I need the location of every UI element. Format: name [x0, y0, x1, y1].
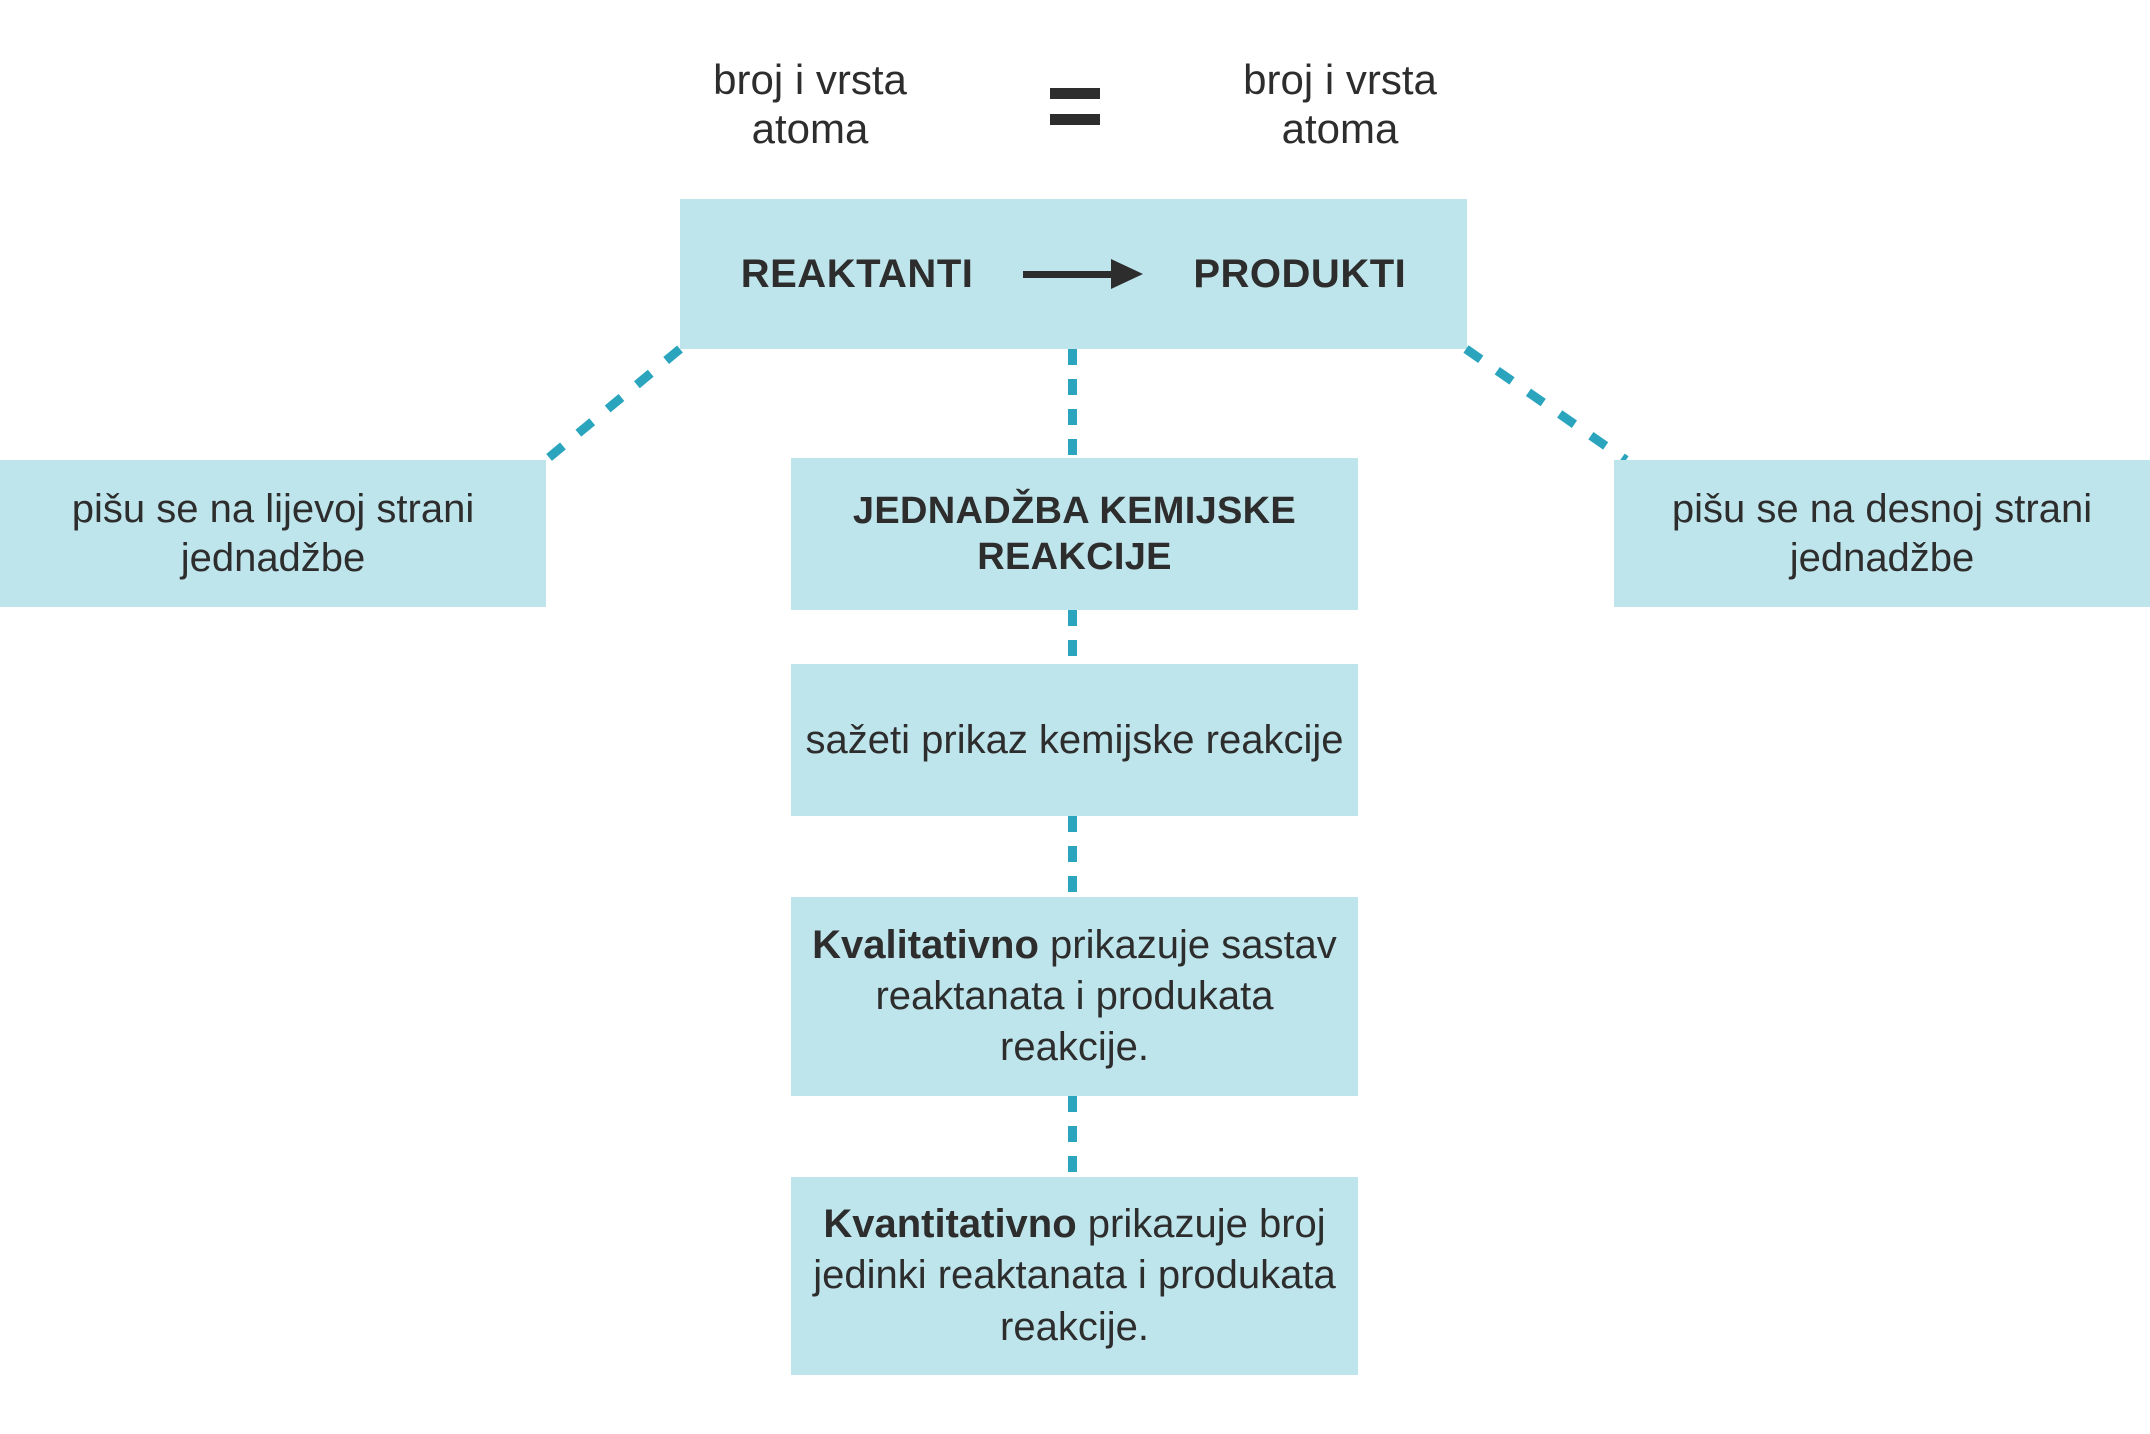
node-equation-title: JEDNADŽBA KEMIJSKE REAKCIJE: [791, 458, 1358, 610]
reactants-products-banner: REAKTANTI PRODUKTI: [680, 199, 1467, 349]
right-arrow-icon: [1023, 259, 1143, 289]
connector-title-to-summary: [1068, 610, 1077, 665]
note-left-reactants-side: pišu se na lijevoj strani jednadžbe: [0, 460, 546, 607]
node-qualitative: Kvalitativno prikazuje sastav reaktanata…: [791, 897, 1358, 1096]
note-right-products-side: pišu se na desnoj strani jednadžbe: [1614, 460, 2150, 607]
dashed-line-left: [546, 349, 680, 460]
equals-sign-icon: [1040, 72, 1110, 132]
reactants-label: REAKTANTI: [741, 252, 974, 297]
banner-row: REAKTANTI PRODUKTI: [680, 252, 1467, 297]
equation-title-text: JEDNADŽBA KEMIJSKE REAKCIJE: [791, 488, 1358, 581]
summary-text: sažeti prikaz kemijske reakcije: [791, 715, 1358, 765]
connector-qualitative-to-quantitative: [1068, 1096, 1077, 1178]
node-quantitative: Kvantitativno prikazuje broj jedinki rea…: [791, 1177, 1358, 1375]
quantitative-lead: Kvantitativno: [823, 1202, 1076, 1246]
connector-summary-to-qualitative: [1068, 816, 1077, 898]
qualitative-lead: Kvalitativno: [812, 923, 1039, 967]
products-label: PRODUKTI: [1193, 252, 1406, 297]
diagram-canvas: broj i vrsta atoma broj i vrsta atoma RE…: [0, 0, 2150, 1434]
quantitative-text: Kvantitativno prikazuje broj jedinki rea…: [791, 1199, 1358, 1353]
caption-right-atoms: broj i vrsta atoma: [1190, 55, 1490, 153]
caption-left-atoms: broj i vrsta atoma: [660, 55, 960, 153]
connector-banner-to-title: [1068, 349, 1077, 459]
dashed-line-right: [1466, 349, 1626, 460]
arrow-head: [1111, 259, 1143, 289]
note-left-text: pišu se na lijevoj strani jednadžbe: [0, 485, 546, 583]
note-right-text: pišu se na desnoj strani jednadžbe: [1614, 485, 2150, 583]
arrow-shaft: [1023, 271, 1115, 278]
equals-bar-bottom: [1050, 114, 1100, 125]
equals-bar-top: [1050, 88, 1100, 99]
node-summary: sažeti prikaz kemijske reakcije: [791, 664, 1358, 816]
qualitative-text: Kvalitativno prikazuje sastav reaktanata…: [791, 920, 1358, 1074]
connector-banner-to-right-note: [1430, 340, 1910, 480]
